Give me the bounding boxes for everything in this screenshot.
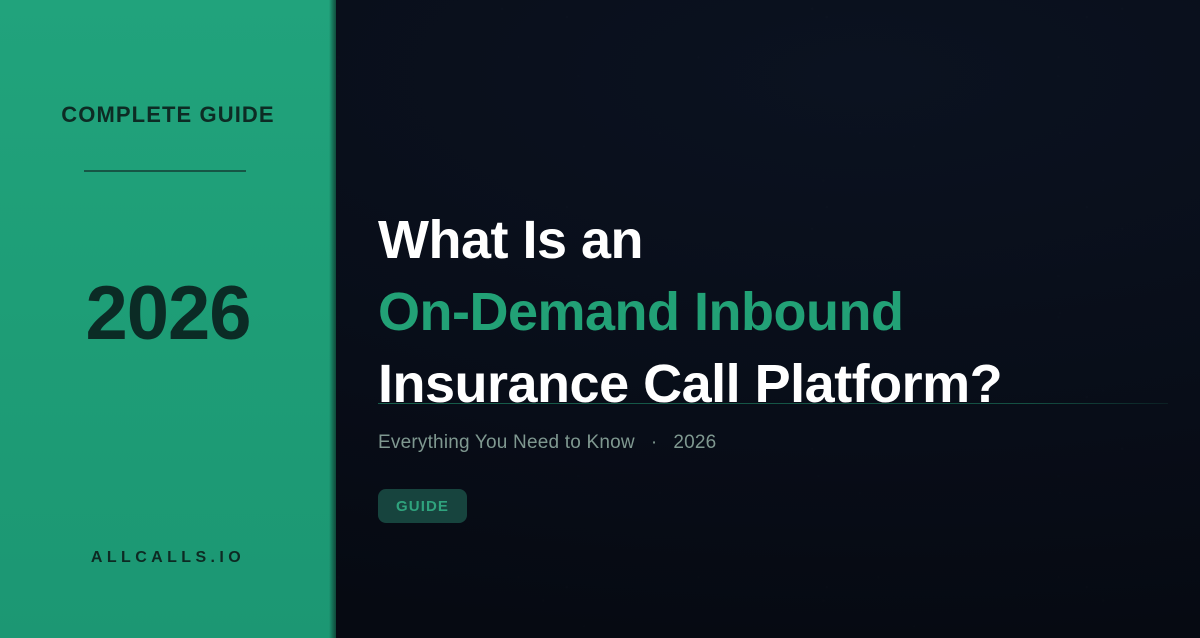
eyebrow-divider <box>84 170 246 172</box>
meta-row: Everything You Need to Know · 2026 <box>378 429 716 457</box>
left-accent-panel: COMPLETE GUIDE 2026 ALLCALLS.IO <box>0 0 336 638</box>
meta-year: 2026 <box>673 429 716 457</box>
title-line-1: What Is an <box>378 204 1168 276</box>
meta-divider <box>378 403 1168 404</box>
eyebrow-label: COMPLETE GUIDE <box>0 96 336 133</box>
meta-description: Everything You Need to Know <box>378 429 635 457</box>
brand-wordmark: ALLCALLS.IO <box>0 546 336 570</box>
meta-separator-dot: · <box>651 429 658 457</box>
panel-year: 2026 <box>0 272 336 356</box>
status-badge[interactable]: GUIDE <box>378 489 467 523</box>
title-line-2-accent: On-Demand Inbound <box>378 276 1168 348</box>
title-line-3: Insurance Call Platform? <box>378 348 1168 420</box>
hero-content: What Is an On-Demand Inbound Insurance C… <box>378 0 1168 638</box>
page-title: What Is an On-Demand Inbound Insurance C… <box>378 204 1168 420</box>
hero-banner: COMPLETE GUIDE 2026 ALLCALLS.IO What Is … <box>0 0 1200 638</box>
